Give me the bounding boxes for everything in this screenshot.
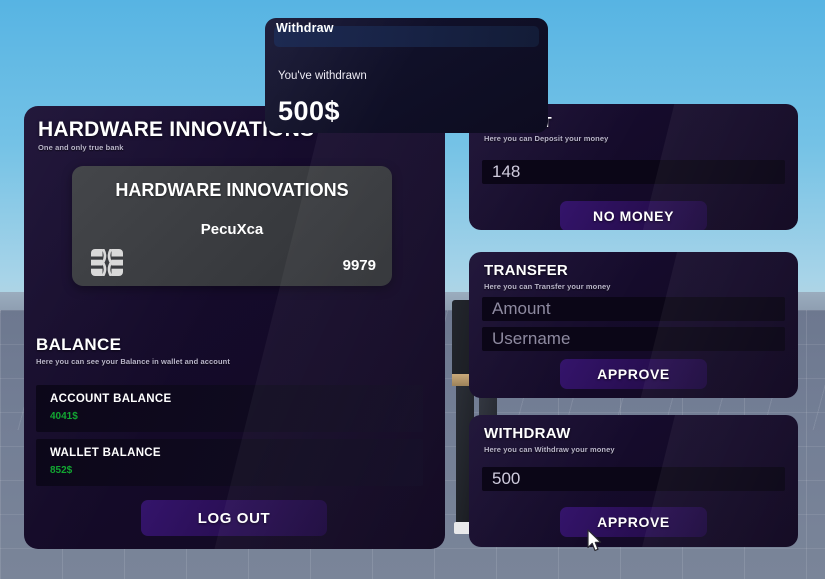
deposit-subtitle: Here you can Deposit your money (484, 134, 608, 143)
withdraw-notification: Withdraw You've withdrawn 500$ (265, 18, 548, 133)
page-subtitle: One and only true bank (38, 143, 124, 152)
transfer-amount-input[interactable]: Amount (482, 297, 785, 321)
card-bank-name: HARDWARE INNOVATIONS (72, 180, 392, 201)
account-balance-row: ACCOUNT BALANCE 4041$ (36, 385, 423, 432)
balance-section-title: BALANCE (36, 335, 121, 355)
card-number: 9979 (343, 257, 376, 274)
card-owner-name: PecuXca (72, 221, 392, 238)
withdraw-amount-input[interactable]: 500 (482, 467, 785, 491)
deposit-submit-button[interactable]: NO MONEY (560, 201, 707, 230)
bank-main-panel: HARDWARE INNOVATIONS One and only true b… (24, 106, 445, 549)
notification-title: Withdraw (276, 21, 334, 35)
transfer-approve-button[interactable]: APPROVE (560, 359, 707, 389)
withdraw-title: WITHDRAW (484, 425, 571, 442)
account-balance-value: 4041$ (50, 411, 78, 422)
notification-amount: 500$ (278, 96, 340, 127)
wallet-balance-value: 852$ (50, 465, 72, 476)
withdraw-approve-button[interactable]: APPROVE (560, 507, 707, 537)
notification-message: You've withdrawn (278, 70, 367, 82)
account-balance-label: ACCOUNT BALANCE (50, 393, 171, 405)
balance-section-subtitle: Here you can see your Balance in wallet … (36, 357, 230, 366)
deposit-amount-input[interactable]: 148 (482, 160, 785, 184)
mouse-cursor-icon (587, 529, 603, 553)
wallet-balance-label: WALLET BALANCE (50, 447, 161, 459)
transfer-username-input[interactable]: Username (482, 327, 785, 351)
withdraw-subtitle: Here you can Withdraw your money (484, 445, 615, 454)
wallet-balance-row: WALLET BALANCE 852$ (36, 439, 423, 486)
emv-chip-icon (91, 249, 123, 276)
transfer-subtitle: Here you can Transfer your money (484, 282, 611, 291)
withdraw-panel: WITHDRAW Here you can Withdraw your mone… (469, 415, 798, 547)
credit-card[interactable]: HARDWARE INNOVATIONS PecuXca 9979 (72, 166, 392, 286)
logout-button[interactable]: LOG OUT (141, 500, 327, 536)
transfer-title: TRANSFER (484, 262, 568, 279)
transfer-panel: TRANSFER Here you can Transfer your mone… (469, 252, 798, 398)
